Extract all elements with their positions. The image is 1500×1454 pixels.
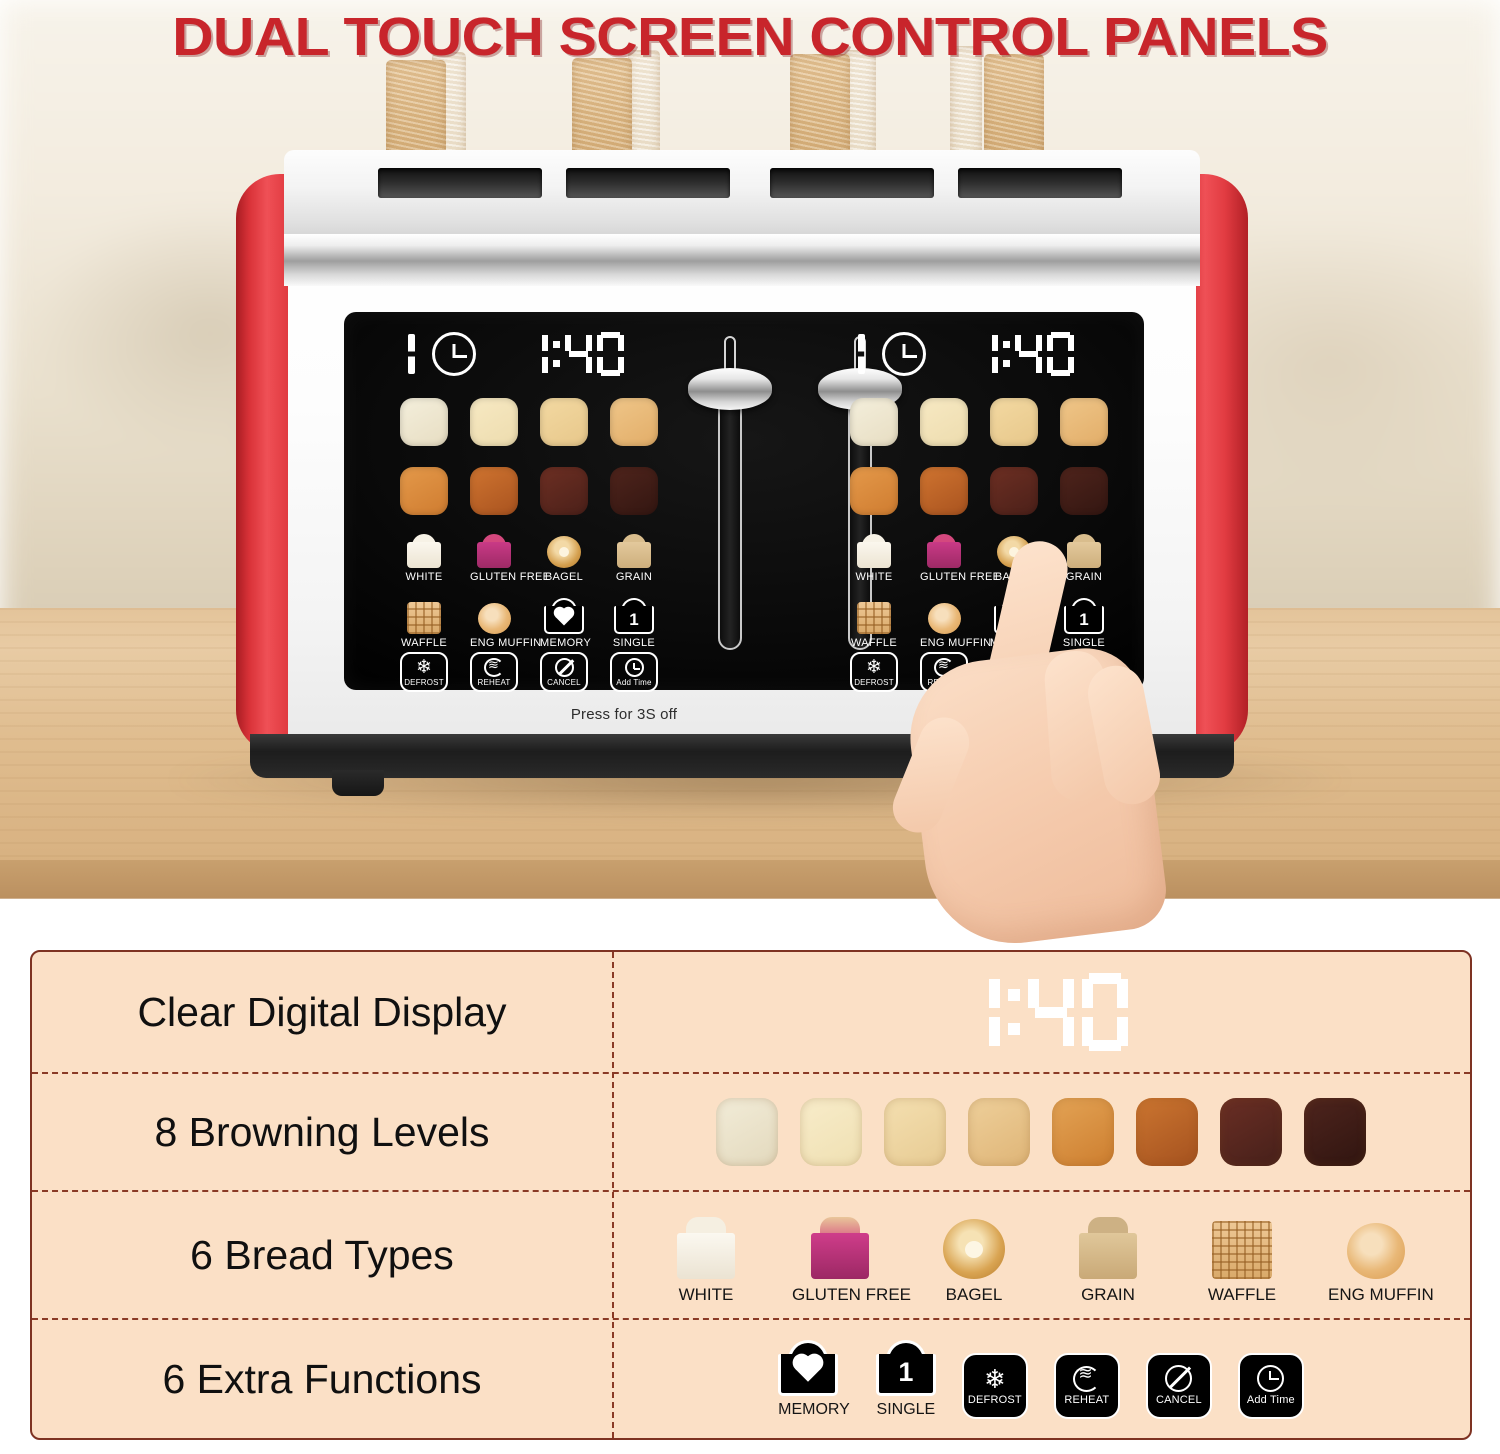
bread-label: GRAIN bbox=[1060, 1285, 1156, 1305]
bread-slot[interactable] bbox=[566, 168, 730, 198]
bread-type-list: WHITE GLUTEN FREE bbox=[658, 1205, 1424, 1305]
colon-icon bbox=[1008, 981, 1020, 1043]
bread-type-button-bagel[interactable]: BAGEL bbox=[540, 522, 588, 583]
bread-type-button-white[interactable]: WHITE bbox=[400, 522, 448, 583]
single-slice-icon: 1 bbox=[610, 588, 658, 634]
bread-type-label: GRAIN bbox=[610, 571, 658, 583]
bread-slot[interactable] bbox=[770, 168, 934, 198]
browning-level-button[interactable] bbox=[850, 398, 898, 446]
hero-product-photo: WHITE GLUTEN FREE BAGEL bbox=[0, 0, 1500, 945]
lever-track bbox=[718, 374, 742, 650]
cancel-button-icon: CANCEL bbox=[1146, 1353, 1212, 1419]
browning-level-grid-right[interactable] bbox=[850, 398, 1108, 515]
function-item-single: 1 SINGLE bbox=[876, 1340, 936, 1419]
cancel-prohibition-icon bbox=[555, 658, 574, 677]
feature-row-bread-types: 6 Bread Types WHITE bbox=[32, 1190, 1470, 1318]
colon-icon bbox=[1003, 337, 1010, 371]
bagel-icon bbox=[540, 522, 588, 568]
hand-pointing bbox=[900, 545, 1200, 940]
colon-icon bbox=[553, 337, 560, 371]
function-button-waffle[interactable]: WAFFLE bbox=[400, 588, 448, 649]
extra-function-list: MEMORY 1 SINGLE ❄ DEFROST bbox=[778, 1340, 1304, 1419]
browning-level-button[interactable] bbox=[990, 467, 1038, 515]
bread-item-bagel: BAGEL bbox=[926, 1205, 1022, 1305]
clock-add-time-icon bbox=[625, 658, 644, 677]
reheat-button-icon: REHEAT bbox=[1054, 1353, 1120, 1419]
english-muffin-icon bbox=[470, 588, 518, 634]
defrost-button[interactable]: ❄ DEFROST bbox=[400, 652, 448, 692]
function-button-waffle[interactable]: WAFFLE bbox=[850, 588, 898, 649]
add-time-button-icon: Add Time bbox=[1238, 1353, 1304, 1419]
reheat-button[interactable]: REHEAT bbox=[470, 652, 518, 692]
function-item-cancel: CANCEL bbox=[1146, 1353, 1212, 1419]
bread-type-button-white[interactable]: WHITE bbox=[850, 522, 898, 583]
bagel-icon bbox=[926, 1205, 1022, 1279]
page-title: DUAL TOUCH SCREEN CONTROL PANELS bbox=[0, 6, 1500, 68]
chrome-band bbox=[284, 234, 1200, 286]
bread-type-label: WHITE bbox=[400, 571, 448, 583]
function-item-defrost: ❄ DEFROST bbox=[962, 1353, 1028, 1419]
toaster-top-plate bbox=[284, 150, 1200, 246]
reheat-label: REHEAT bbox=[1064, 1394, 1109, 1406]
left-control-cluster[interactable]: WHITE GLUTEN FREE BAGEL bbox=[364, 326, 664, 682]
digital-display-readout bbox=[954, 973, 1128, 1051]
feature-visual bbox=[612, 1098, 1470, 1166]
function-button-single[interactable]: 1 SINGLE bbox=[610, 588, 658, 649]
function-label: ENG MUFFIN bbox=[470, 637, 518, 649]
browning-level-button[interactable] bbox=[850, 467, 898, 515]
gluten-free-bread-icon bbox=[792, 1205, 888, 1279]
browning-level-grid-left[interactable] bbox=[400, 398, 658, 515]
browning-swatch bbox=[1220, 1098, 1282, 1166]
feature-visual: WHITE GLUTEN FREE bbox=[612, 1205, 1470, 1305]
feature-row-browning: 8 Browning Levels bbox=[32, 1072, 1470, 1190]
function-item-reheat: REHEAT bbox=[1054, 1353, 1120, 1419]
mode-digit-icon bbox=[858, 334, 865, 374]
reheat-steam-icon bbox=[1073, 1366, 1100, 1392]
browning-swatch bbox=[716, 1098, 778, 1166]
browning-level-button[interactable] bbox=[470, 467, 518, 515]
bread-item-grain: GRAIN bbox=[1060, 1205, 1156, 1305]
bread-item-gluten-free: GLUTEN FREE bbox=[792, 1205, 888, 1305]
press-for-off-note: Press for 3S off bbox=[344, 706, 904, 723]
browning-level-button[interactable] bbox=[920, 467, 968, 515]
feature-label: 6 Bread Types bbox=[32, 1232, 612, 1279]
browning-level-button[interactable] bbox=[1060, 467, 1108, 515]
feature-label: 8 Browning Levels bbox=[32, 1109, 612, 1156]
time-readout bbox=[971, 332, 1074, 376]
bread-type-button-grain[interactable]: GRAIN bbox=[610, 522, 658, 583]
bread-slot[interactable] bbox=[958, 168, 1122, 198]
toaster-foot bbox=[332, 770, 384, 796]
browning-level-swatches bbox=[716, 1098, 1366, 1166]
function-label: SINGLE bbox=[876, 1401, 936, 1419]
white-bread-icon bbox=[658, 1205, 754, 1279]
cancel-prohibition-icon bbox=[1165, 1365, 1192, 1392]
white-bread-icon bbox=[850, 522, 898, 568]
bread-item-eng-muffin: ENG MUFFIN bbox=[1328, 1205, 1424, 1305]
mode-digit-icon bbox=[408, 334, 415, 374]
waffle-icon bbox=[1194, 1205, 1290, 1279]
feature-row-extra-functions: 6 Extra Functions MEMORY 1 SINGLE bbox=[32, 1318, 1470, 1438]
browning-swatch bbox=[1052, 1098, 1114, 1166]
snowflake-icon: ❄ bbox=[866, 658, 882, 677]
add-time-label: Add Time bbox=[616, 678, 651, 687]
single-slice-icon: 1 bbox=[876, 1340, 936, 1396]
gluten-free-bread-icon bbox=[470, 522, 518, 568]
browning-swatch bbox=[1304, 1098, 1366, 1166]
white-bread-icon bbox=[400, 522, 448, 568]
grain-bread-icon bbox=[1060, 1205, 1156, 1279]
browning-level-button[interactable] bbox=[470, 398, 518, 446]
cancel-label: CANCEL bbox=[547, 678, 581, 687]
browning-level-button[interactable] bbox=[540, 398, 588, 446]
english-muffin-icon bbox=[1328, 1205, 1424, 1279]
browning-level-button[interactable] bbox=[920, 398, 968, 446]
clock-icon bbox=[432, 332, 476, 376]
bread-slot[interactable] bbox=[378, 168, 542, 198]
browning-level-button[interactable] bbox=[400, 467, 448, 515]
defrost-label: DEFROST bbox=[968, 1394, 1022, 1406]
carriage-lever-left[interactable] bbox=[688, 336, 772, 656]
function-item-memory: MEMORY bbox=[778, 1340, 850, 1419]
function-label: WAFFLE bbox=[400, 637, 448, 649]
grain-bread-icon bbox=[610, 522, 658, 568]
browning-level-button[interactable] bbox=[400, 398, 448, 446]
led-display-right bbox=[858, 332, 1074, 376]
function-type-grid-left[interactable]: WAFFLE ENG MUFFIN MEMORY 1 bbox=[400, 588, 658, 649]
feature-summary-panel: Clear Digital Display 8 Browning Levels bbox=[30, 950, 1472, 1440]
browning-level-button[interactable] bbox=[610, 398, 658, 446]
bread-label: GLUTEN FREE bbox=[792, 1285, 888, 1305]
countertop-edge bbox=[0, 860, 1500, 945]
browning-level-button[interactable] bbox=[610, 467, 658, 515]
browning-level-button[interactable] bbox=[1060, 398, 1108, 446]
memory-bread-heart-icon bbox=[778, 1340, 838, 1396]
bread-type-grid-left[interactable]: WHITE GLUTEN FREE BAGEL bbox=[400, 522, 658, 583]
add-time-button[interactable]: Add Time bbox=[610, 652, 658, 692]
function-label: SINGLE bbox=[610, 637, 658, 649]
bread-label: WAFFLE bbox=[1194, 1285, 1290, 1305]
bread-type-button-gluten-free[interactable]: GLUTEN FREE bbox=[470, 522, 518, 583]
clock-add-time-icon bbox=[1257, 1365, 1284, 1392]
bread-type-label: GLUTEN FREE bbox=[470, 571, 518, 583]
defrost-label: DEFROST bbox=[854, 678, 894, 687]
reheat-label: REHEAT bbox=[477, 678, 510, 687]
feature-visual bbox=[612, 973, 1470, 1051]
feature-label: Clear Digital Display bbox=[32, 989, 612, 1036]
function-button-memory[interactable]: MEMORY bbox=[540, 588, 588, 649]
bread-item-white: WHITE bbox=[658, 1205, 754, 1305]
bread-type-label: BAGEL bbox=[540, 571, 588, 583]
function-button-row-left[interactable]: ❄ DEFROST REHEAT CANCEL Add Time bbox=[400, 652, 658, 692]
lever-knob[interactable] bbox=[688, 368, 772, 410]
bread-item-waffle: WAFFLE bbox=[1194, 1205, 1290, 1305]
waffle-icon bbox=[400, 588, 448, 634]
cancel-label: CANCEL bbox=[1156, 1394, 1202, 1406]
defrost-button-icon: ❄ DEFROST bbox=[962, 1353, 1028, 1419]
function-label: MEMORY bbox=[778, 1401, 850, 1419]
browning-level-button[interactable] bbox=[540, 467, 588, 515]
defrost-button[interactable]: ❄ DEFROST bbox=[850, 652, 898, 692]
reheat-steam-icon bbox=[484, 658, 504, 677]
led-display-left bbox=[408, 332, 624, 376]
snowflake-icon: ❄ bbox=[416, 658, 432, 677]
snowflake-icon: ❄ bbox=[984, 1366, 1006, 1392]
function-item-add-time: Add Time bbox=[1238, 1353, 1304, 1419]
function-label: MEMORY bbox=[540, 637, 588, 649]
clock-icon bbox=[882, 332, 926, 376]
waffle-icon bbox=[850, 588, 898, 634]
time-readout bbox=[521, 332, 624, 376]
defrost-label: DEFROST bbox=[404, 678, 444, 687]
memory-bread-heart-icon bbox=[540, 588, 588, 634]
add-time-label: Add Time bbox=[1247, 1394, 1295, 1406]
bread-type-label: WHITE bbox=[850, 571, 898, 583]
feature-visual: MEMORY 1 SINGLE ❄ DEFROST bbox=[612, 1340, 1470, 1419]
feature-label: 6 Extra Functions bbox=[32, 1356, 612, 1403]
browning-swatch bbox=[968, 1098, 1030, 1166]
function-button-eng-muffin[interactable]: ENG MUFFIN bbox=[470, 588, 518, 649]
bread-label: BAGEL bbox=[926, 1285, 1022, 1305]
feature-row-display: Clear Digital Display bbox=[32, 952, 1470, 1072]
cancel-button[interactable]: CANCEL bbox=[540, 652, 588, 692]
bread-label: ENG MUFFIN bbox=[1328, 1285, 1424, 1305]
browning-swatch bbox=[1136, 1098, 1198, 1166]
browning-swatch bbox=[800, 1098, 862, 1166]
bread-label: WHITE bbox=[658, 1285, 754, 1305]
function-label: WAFFLE bbox=[850, 637, 898, 649]
browning-level-button[interactable] bbox=[990, 398, 1038, 446]
browning-swatch bbox=[884, 1098, 946, 1166]
